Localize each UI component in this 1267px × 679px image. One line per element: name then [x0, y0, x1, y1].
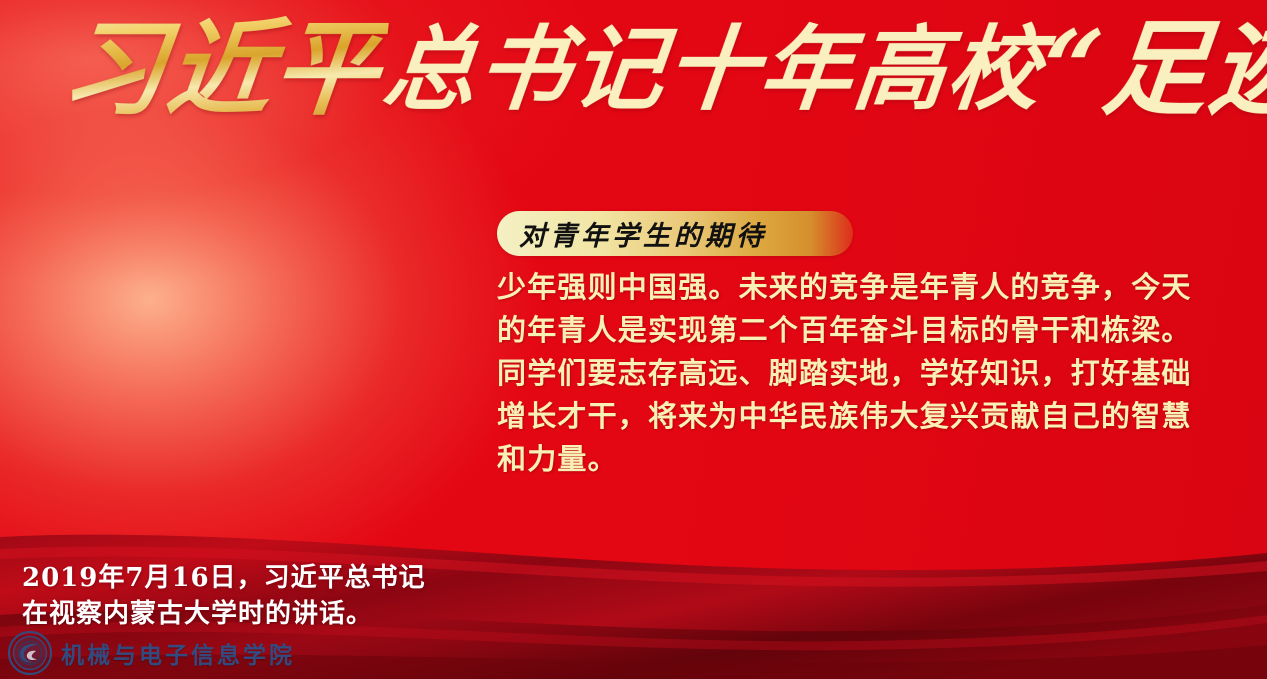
title-gold-segment: 习近平 — [56, 14, 389, 123]
footer-org-name: 机械与电子信息学院 — [61, 636, 295, 670]
portrait-photo — [0, 150, 500, 570]
body-line-4: 增长才干，将来为中华民族伟大复兴贡献自己的智慧 — [497, 395, 1257, 438]
title-quote-open: “ — [1036, 14, 1109, 123]
poster-title: 习近平 总书记十年高校 “ 足迹 ” — [62, 4, 1252, 134]
body-line-3: 同学们要志存高远、脚踏实地，学好知识，打好基础 — [497, 352, 1257, 395]
body-line-2: 的年青人是实现第二个百年奋斗目标的骨干和栋梁。 — [497, 309, 1257, 352]
body-paragraph: 少年强则中国强。未来的竞争是年青人的竞争，今天 的年青人是实现第二个百年奋斗目标… — [497, 266, 1257, 481]
title-cream-segment: 总书记十年高校 — [379, 21, 1047, 118]
section-heading-text: 对青年学生的期待 — [519, 214, 767, 253]
body-line-5: 和力量。 — [497, 438, 1257, 481]
photo-caption: 2019年7月16日，习近平总书记 在视察内蒙古大学时的讲话。 — [22, 560, 542, 632]
body-line-1: 少年强则中国强。未来的竞争是年青人的竞争，今天 — [497, 266, 1257, 309]
section-heading-pill: 对青年学生的期待 — [497, 211, 853, 256]
circular-seal-logo-icon — [8, 631, 52, 675]
poster-canvas: 习近平 总书记十年高校 “ 足迹 ” — [0, 0, 1267, 679]
footer-branding: 机械与电子信息学院 — [8, 631, 295, 675]
caption-line-1: 2019年7月16日，习近平总书记 — [22, 560, 542, 596]
caption-line-2: 在视察内蒙古大学时的讲话。 — [22, 596, 542, 632]
title-quoted-word: 足迹 — [1098, 14, 1267, 123]
